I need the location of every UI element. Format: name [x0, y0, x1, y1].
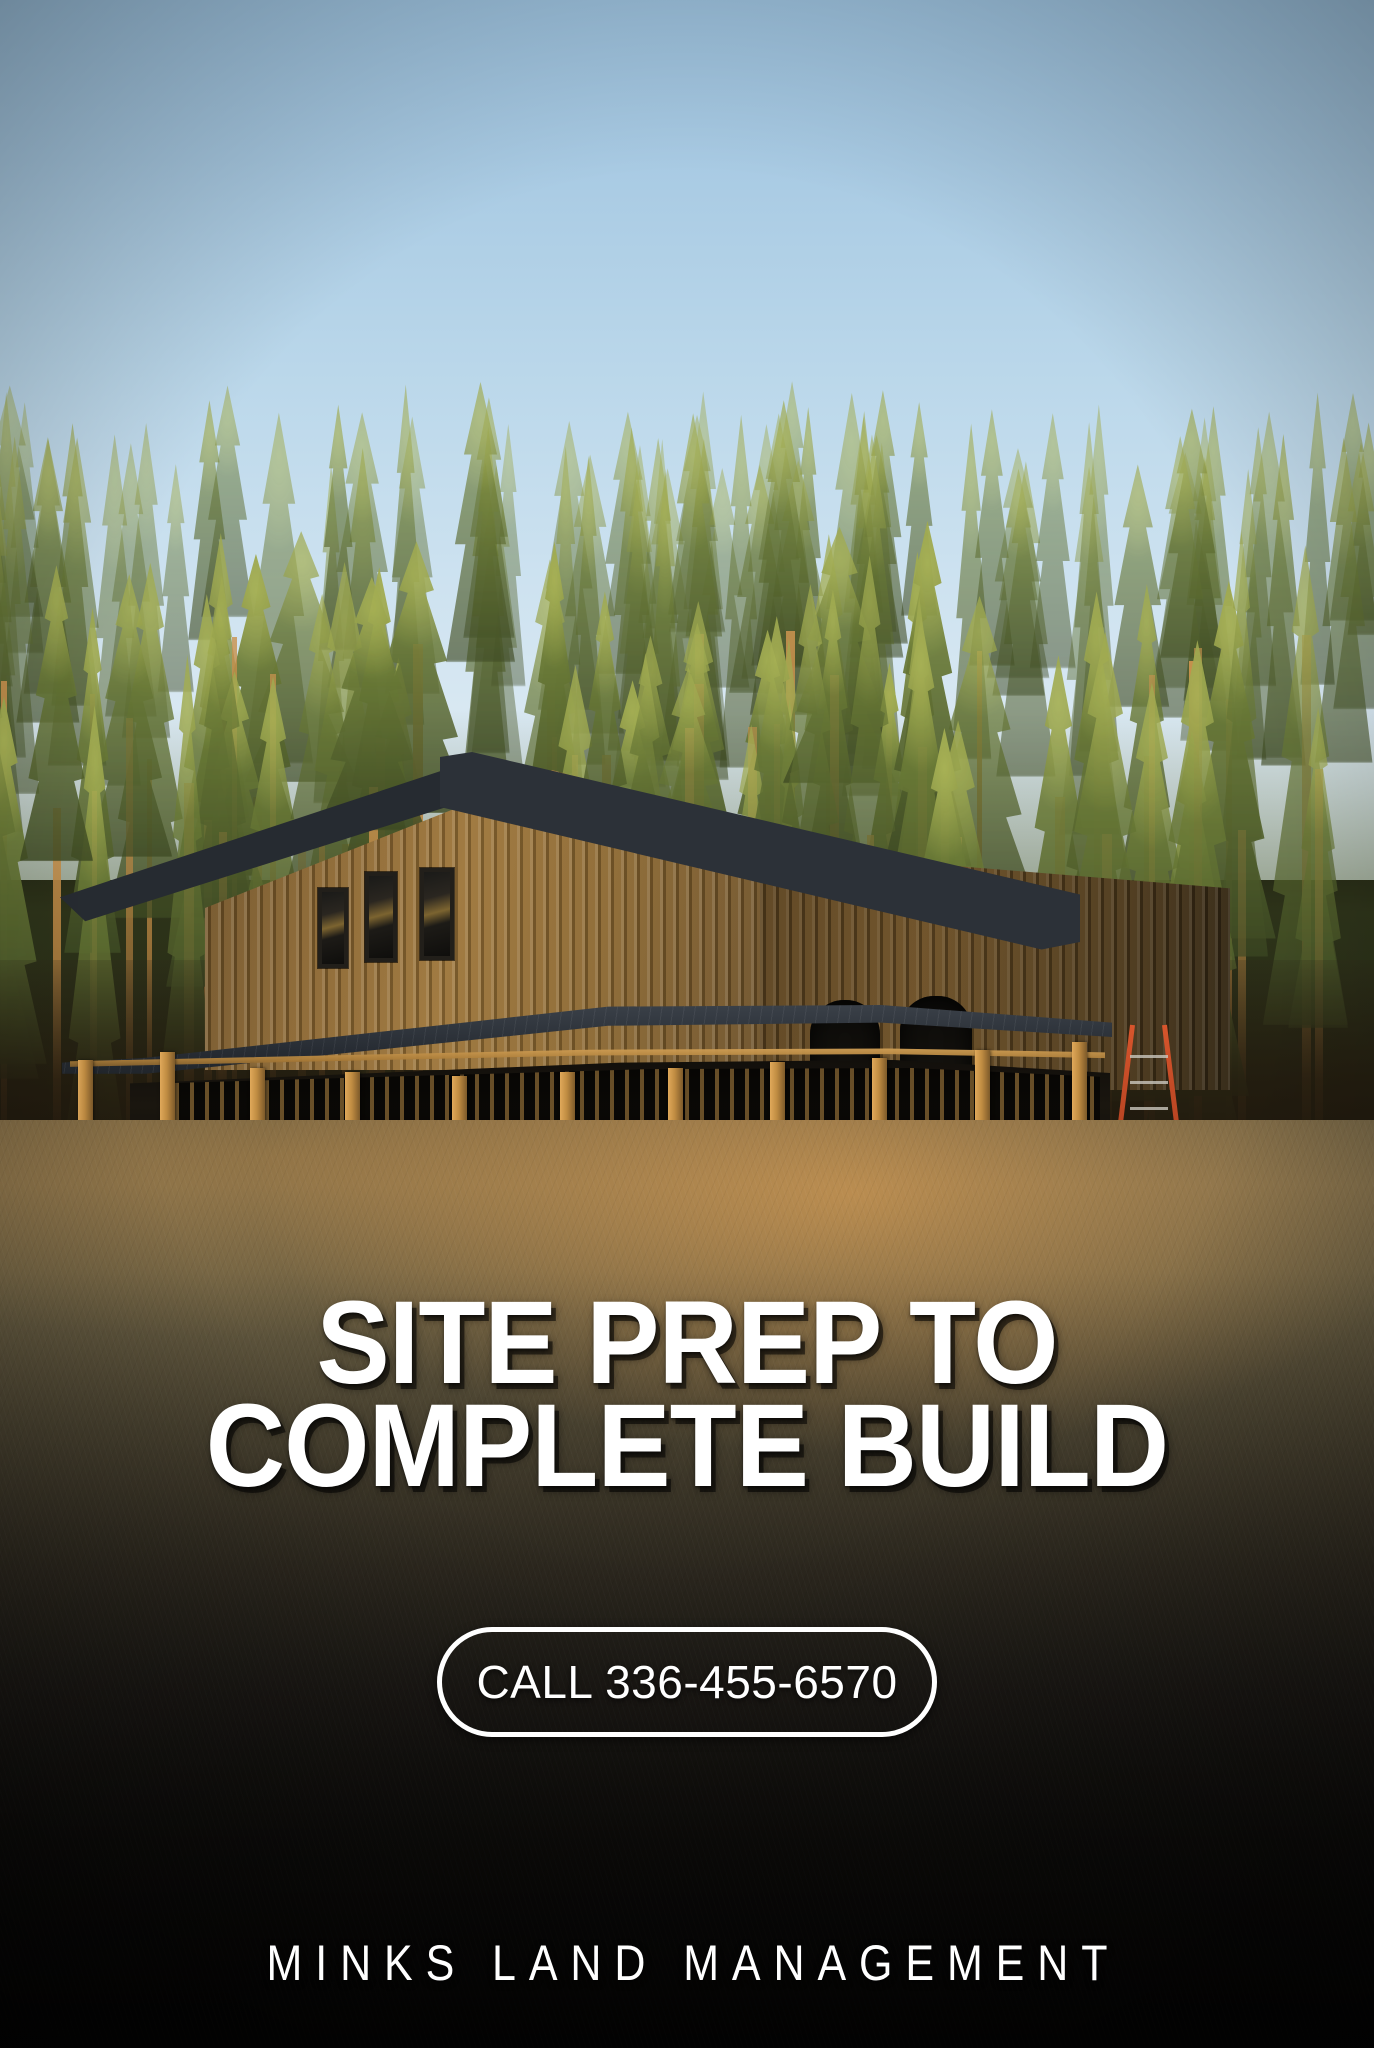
page-title: SITE PREP TO COMPLETE BUILD — [48, 1292, 1326, 1498]
call-button[interactable]: CALL 336-455-6570 — [437, 1627, 937, 1737]
call-button-label: CALL 336-455-6570 — [476, 1655, 897, 1709]
brand-name: MINKS LAND MANAGEMENT — [96, 1934, 1278, 1992]
headline-line-2: COMPLETE BUILD — [48, 1395, 1326, 1498]
text-overlay: SITE PREP TO COMPLETE BUILD CALL 336-455… — [0, 0, 1374, 2048]
marketing-poster: SITE PREP TO COMPLETE BUILD CALL 336-455… — [0, 0, 1374, 2048]
